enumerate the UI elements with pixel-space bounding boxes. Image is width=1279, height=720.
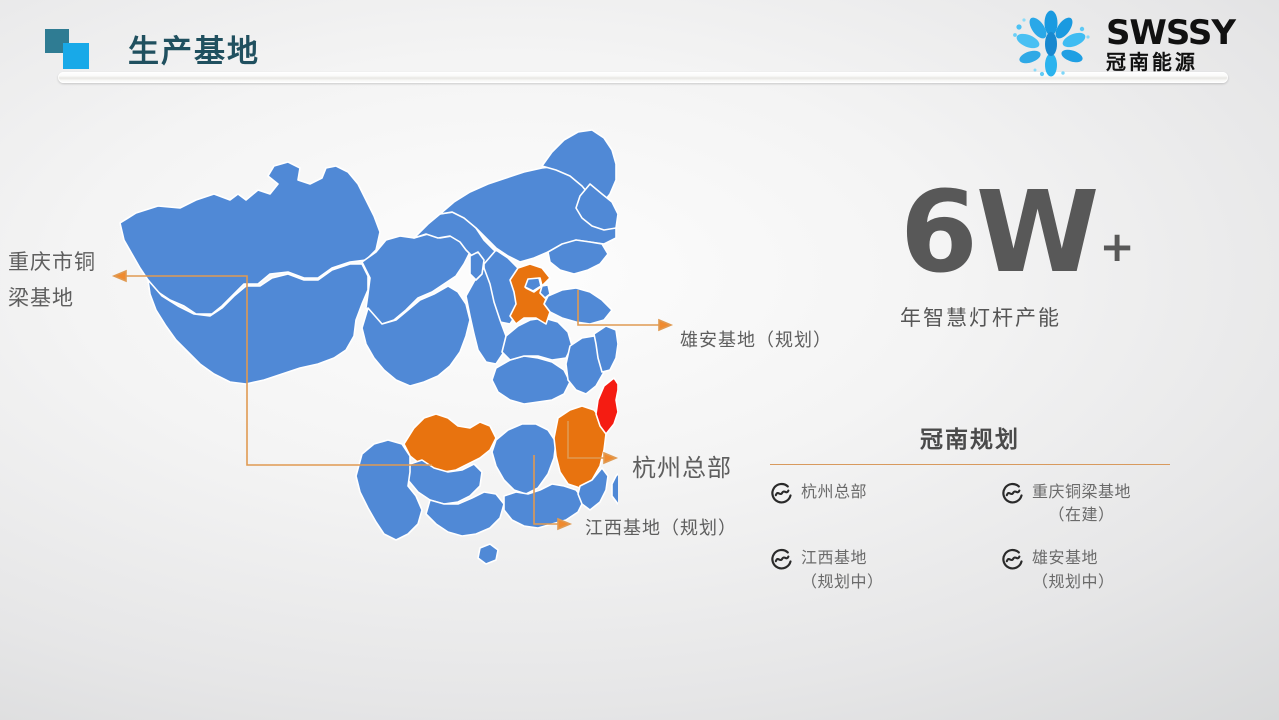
plan-item-jiangxi-label: 江西基地 （规划中） xyxy=(801,546,884,592)
plan-item-chongqing-label: 重庆铜梁基地 （在建） xyxy=(1032,480,1131,526)
plan-item-jiangxi-line1: 江西基地 xyxy=(801,548,867,567)
plan-item-hangzhou-label: 杭州总部 xyxy=(801,480,867,503)
plan-item-jiangxi[interactable]: 江西基地 （规划中） xyxy=(770,546,963,592)
plan-item-jiangxi-line2: （规划中） xyxy=(801,570,884,593)
swssy-droplet-logo-icon xyxy=(1008,10,1094,78)
callout-label-jiangxi: 江西基地（规划） xyxy=(585,514,737,540)
china-map xyxy=(118,128,618,573)
wave-circle-icon xyxy=(1001,547,1025,571)
stat-number-row: 6W + xyxy=(900,186,1135,280)
page-title: 生产基地 xyxy=(128,26,260,71)
slide-canvas: 生产基地 xyxy=(0,0,1279,720)
province-zhejiang-highlight xyxy=(596,378,618,434)
province-hubei xyxy=(492,356,570,404)
brand-logo: SWSSY 冠南能源 xyxy=(1008,8,1235,80)
plan-item-hangzhou[interactable]: 杭州总部 xyxy=(770,480,963,526)
stat-number: 6W xyxy=(900,186,1097,280)
plan-panel: 冠南规划 杭州总部 重庆铜梁基地 （在 xyxy=(770,420,1170,593)
plan-item-chongqing-line2: （在建） xyxy=(1032,503,1131,526)
stat-plus-sign: + xyxy=(1099,226,1134,268)
decor-square-blue xyxy=(63,43,89,69)
plan-item-xiongan[interactable]: 雄安基地 （规划中） xyxy=(977,546,1170,592)
wave-circle-icon xyxy=(1001,481,1025,505)
callout-chongqing-line2: 梁基地 xyxy=(8,280,118,316)
wave-circle-icon xyxy=(770,481,794,505)
plan-item-xiongan-line2: （规划中） xyxy=(1032,570,1115,593)
plan-item-chongqing-line1: 重庆铜梁基地 xyxy=(1032,482,1131,501)
plan-divider xyxy=(770,464,1170,465)
plan-item-hangzhou-line1: 杭州总部 xyxy=(801,482,867,501)
plan-title: 冠南规划 xyxy=(770,420,1170,454)
logo-wordmark: SWSSY xyxy=(1106,16,1235,50)
callout-label-xiongan: 雄安基地（规划） xyxy=(680,326,832,352)
logo-text-block: SWSSY 冠南能源 xyxy=(1106,16,1235,73)
province-henan xyxy=(502,318,572,360)
stat-caption: 年智慧灯杆产能 xyxy=(900,302,1135,332)
plan-item-chongqing[interactable]: 重庆铜梁基地 （在建） xyxy=(977,480,1170,526)
wave-circle-icon xyxy=(770,547,794,571)
logo-subtext: 冠南能源 xyxy=(1106,51,1235,73)
province-hunan xyxy=(492,424,556,494)
callout-chongqing-line1: 重庆市铜 xyxy=(8,244,118,280)
callout-label-hangzhou: 杭州总部 xyxy=(632,448,732,483)
plan-item-list: 杭州总部 重庆铜梁基地 （在建） xyxy=(770,480,1170,593)
callout-label-chongqing: 重庆市铜 梁基地 xyxy=(8,244,118,316)
capacity-stat: 6W + 年智慧灯杆产能 xyxy=(900,186,1135,332)
arrow-xiongan xyxy=(659,320,671,330)
plan-item-xiongan-label: 雄安基地 （规划中） xyxy=(1032,546,1115,592)
province-shandong xyxy=(544,288,612,324)
province-hainan xyxy=(478,544,498,564)
plan-item-xiongan-line1: 雄安基地 xyxy=(1032,548,1098,567)
province-taiwan xyxy=(612,470,618,504)
